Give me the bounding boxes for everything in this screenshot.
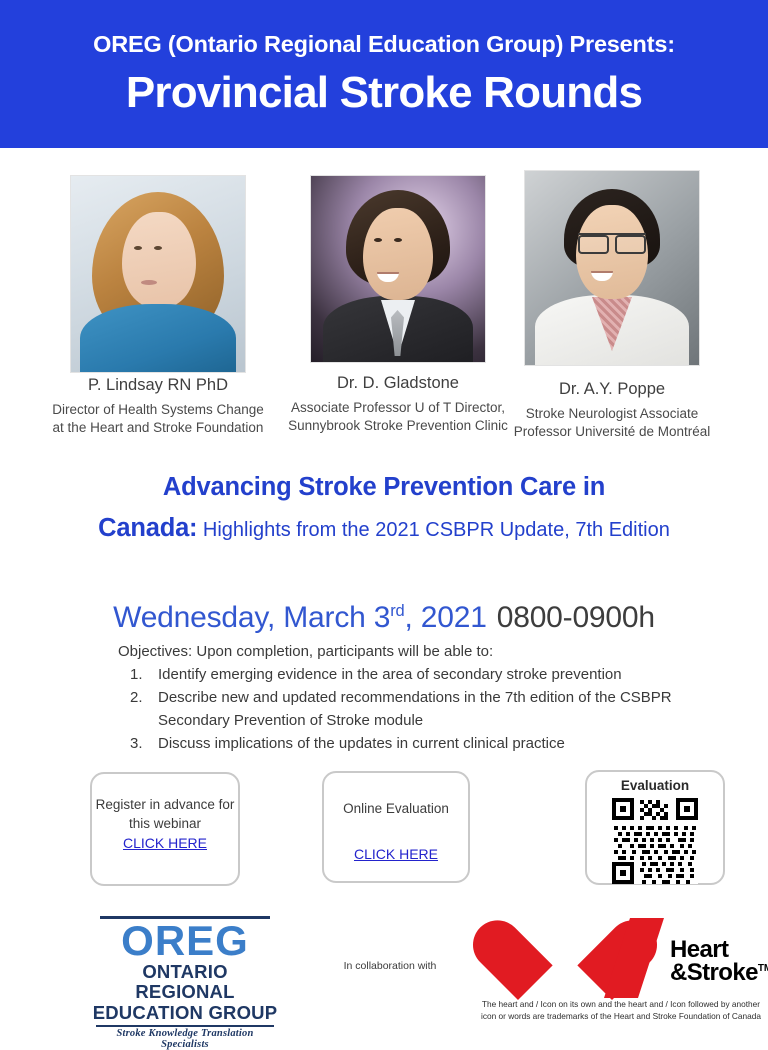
objectives-intro: Objectives: Upon completion, participant… bbox=[118, 641, 678, 662]
objective-item: 3. Discuss implications of the updates i… bbox=[118, 733, 678, 755]
speaker-role: Stroke Neurologist Associate Professor U… bbox=[497, 405, 727, 441]
speaker-role: Associate Professor U of T Director, Sun… bbox=[283, 399, 513, 435]
heart-and-stroke-mark: Heart &StrokeTM bbox=[492, 910, 768, 984]
objectives-section: Objectives: Upon completion, participant… bbox=[118, 641, 678, 755]
speaker-name: P. Lindsay RN PhD bbox=[43, 375, 273, 396]
session-title-rest: Highlights from the 2021 CSBPR Update, 7… bbox=[203, 519, 670, 541]
speaker-name: Dr. A.Y. Poppe bbox=[497, 379, 727, 400]
speaker-card-gladstone: Dr. D. Gladstone Associate Professor U o… bbox=[283, 162, 513, 435]
page-title: Provincial Stroke Rounds bbox=[126, 71, 642, 115]
qr-finder-top-right bbox=[676, 798, 698, 820]
action-boxes: Register in advance for this webinar CLI… bbox=[0, 770, 768, 890]
session-title-lead: Canada: bbox=[98, 514, 197, 542]
oreg-tagline: Stroke Knowledge Translation Specialists bbox=[92, 1028, 278, 1050]
objective-item: 2. Describe new and updated recommendati… bbox=[118, 687, 678, 731]
trademark-icon: TM bbox=[758, 963, 768, 974]
objective-item: 1. Identify emerging evidence in the are… bbox=[118, 664, 678, 686]
qr-box-label: Evaluation bbox=[587, 779, 723, 793]
oreg-subtitle-line2: EDUCATION GROUP bbox=[92, 1003, 278, 1023]
objective-number: 3. bbox=[130, 733, 148, 755]
heart-and-stroke-logo: Heart &StrokeTM The heart and / Icon on … bbox=[470, 910, 768, 984]
speaker-role: Director of Health Systems Change at the… bbox=[43, 401, 273, 437]
collaboration-text: In collaboration with bbox=[300, 960, 480, 972]
heart-icon bbox=[518, 922, 612, 1006]
register-box-text: Register in advance for this webinar bbox=[92, 795, 238, 833]
date-ordinal: rd bbox=[390, 602, 404, 620]
objective-text: Discuss implications of the updates in c… bbox=[158, 735, 565, 752]
evaluation-click-here-link[interactable]: CLICK HERE bbox=[354, 846, 438, 862]
photo-wrap bbox=[283, 162, 513, 367]
glasses-icon bbox=[578, 233, 646, 252]
qr-finder-bottom-left bbox=[612, 862, 634, 884]
speaker-card-poppe: Dr. A.Y. Poppe Stroke Neurologist Associ… bbox=[497, 162, 727, 441]
face-shape bbox=[363, 208, 433, 300]
objectives-list: 1. Identify emerging evidence in the are… bbox=[118, 664, 678, 755]
speaker-card-lindsay: P. Lindsay RN PhD Director of Health Sys… bbox=[43, 162, 273, 437]
session-title: Advancing Stroke Prevention Care in Cana… bbox=[0, 474, 768, 542]
speaker-photo-poppe bbox=[524, 170, 700, 366]
mouth-shape bbox=[141, 280, 157, 285]
presenter-line: OREG (Ontario Regional Education Group) … bbox=[93, 33, 675, 57]
stroke-rounds-flyer: { "header": { "presents_line": "OREG (On… bbox=[0, 0, 768, 1024]
objective-text: Identify emerging evidence in the area o… bbox=[158, 666, 622, 683]
qr-evaluation-box[interactable]: Evaluation bbox=[585, 770, 725, 885]
oreg-logo: OREG ONTARIO REGIONAL EDUCATION GROUP St… bbox=[92, 916, 278, 1050]
session-time: 0800-0900h bbox=[497, 601, 655, 634]
header-banner: OREG (Ontario Regional Education Group) … bbox=[0, 0, 768, 148]
speaker-name: Dr. D. Gladstone bbox=[283, 373, 513, 394]
session-title-line2: Canada: Highlights from the 2021 CSBPR U… bbox=[0, 515, 768, 542]
session-date: Wednesday, March 3rd, 2021 bbox=[113, 601, 487, 634]
objective-number: 2. bbox=[130, 687, 148, 709]
evaluation-box-text: Online Evaluation bbox=[324, 799, 468, 818]
eye-right bbox=[394, 238, 402, 242]
register-box[interactable]: Register in advance for this webinar CLI… bbox=[90, 772, 240, 886]
speaker-photo-gladstone bbox=[310, 175, 486, 363]
eye-left bbox=[374, 238, 382, 242]
photo-wrap bbox=[43, 162, 273, 367]
register-click-here-link[interactable]: CLICK HERE bbox=[123, 835, 207, 851]
speaker-photo-lindsay bbox=[70, 175, 246, 373]
objective-text: Describe new and updated recommendations… bbox=[158, 689, 672, 728]
oreg-wordmark: OREG bbox=[92, 921, 278, 961]
torso-shape bbox=[80, 304, 236, 373]
footer-section: OREG ONTARIO REGIONAL EDUCATION GROUP St… bbox=[0, 900, 768, 1024]
session-title-line1: Advancing Stroke Prevention Care in bbox=[0, 474, 768, 501]
hs-word-line1: Heart bbox=[670, 938, 768, 961]
photo-wrap bbox=[497, 162, 727, 367]
eye-right bbox=[154, 246, 162, 250]
oreg-rule-bottom bbox=[96, 1025, 274, 1027]
trademark-disclaimer: The heart and / Icon on its own and the … bbox=[476, 998, 766, 1022]
hs-word-line2: &Stroke bbox=[670, 959, 758, 986]
heart-and-stroke-wordmark: Heart &StrokeTM bbox=[670, 938, 768, 984]
qr-code-icon[interactable] bbox=[612, 798, 698, 884]
date-prefix: Wednesday, March 3 bbox=[113, 601, 390, 634]
hs-word-line2-wrap: &StrokeTM bbox=[670, 961, 768, 984]
objective-number: 1. bbox=[130, 664, 148, 686]
online-evaluation-box[interactable]: Online Evaluation CLICK HERE bbox=[322, 771, 470, 883]
speakers-section: P. Lindsay RN PhD Director of Health Sys… bbox=[0, 162, 768, 462]
qr-finder-top-left bbox=[612, 798, 634, 820]
session-datetime: Wednesday, March 3rd, 20210800-0900h bbox=[0, 601, 768, 635]
eye-left bbox=[134, 246, 142, 250]
date-suffix: , 2021 bbox=[405, 601, 487, 634]
oreg-subtitle-line1: ONTARIO REGIONAL bbox=[92, 962, 278, 1002]
face-shape bbox=[122, 212, 196, 308]
